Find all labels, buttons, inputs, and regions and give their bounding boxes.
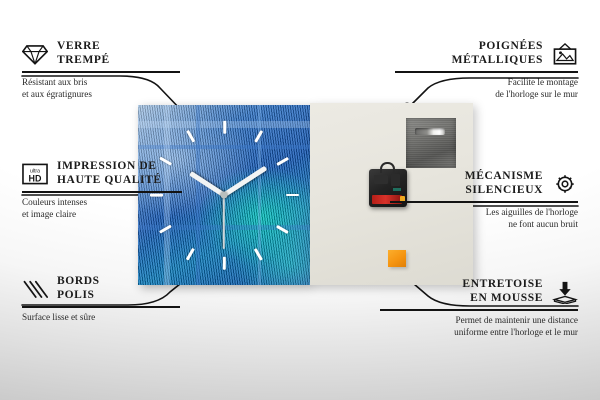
callout-entretoise-en-mousse: ENTRETOISE EN MOUSSE Permet de maintenir… [378, 278, 578, 338]
polished-edge-lines-icon [22, 277, 48, 301]
desc-line: Facilite le montage [508, 77, 578, 87]
callout-title: ENTRETOISE EN MOUSSE [462, 278, 543, 305]
clock-tick [223, 120, 226, 133]
callout-rule [22, 306, 180, 307]
callout-header: VERRE TREMPÉ [22, 40, 182, 67]
title-line: SILENCIEUX [465, 184, 543, 196]
desc-line: Résistant aux bris [22, 77, 87, 87]
callout-description: Couleurs intenses et image claire [22, 196, 192, 221]
hanger-slot [415, 128, 445, 135]
title-line: POLIS [57, 289, 95, 301]
title-line: POIGNÉES [479, 40, 543, 52]
callout-bords-polis: BORDS POLIS Surface lisse et sûre [22, 275, 182, 323]
desc-line: Couleurs intenses [22, 197, 87, 207]
callout-description: Surface lisse et sûre [22, 311, 182, 323]
gear-icon [552, 172, 578, 196]
callout-title: BORDS POLIS [57, 275, 100, 302]
callout-header: ENTRETOISE EN MOUSSE [378, 278, 578, 305]
desc-line: Permet de maintenir une distance [456, 315, 578, 325]
desc-line: uniforme entre l'horloge et le mur [454, 327, 578, 337]
down-arrow-pad-icon [552, 280, 578, 304]
callout-header: BORDS POLIS [22, 275, 182, 302]
desc-line: et aux égratignures [22, 89, 92, 99]
title-line: ENTRETOISE [462, 278, 543, 290]
infographic-stage: VERRE TREMPÉ Résistant aux bris et aux é… [0, 0, 600, 400]
ultra-hd-icon: ultra HD [22, 162, 48, 186]
callout-description: Les aiguilles de l'horloge ne font aucun… [388, 206, 578, 231]
callout-description: Résistant aux bris et aux égratignures [22, 76, 182, 101]
callout-verre-trempe: VERRE TREMPÉ Résistant aux bris et aux é… [22, 40, 182, 100]
diamond-icon [22, 42, 48, 66]
title-line: MÉTALLIQUES [452, 54, 543, 66]
callout-title: POIGNÉES MÉTALLIQUES [452, 40, 543, 67]
callout-title: MÉCANISME SILENCIEUX [465, 170, 543, 197]
orange-foam-spacer [388, 250, 406, 267]
callout-rule [390, 201, 578, 202]
callout-title: VERRE TREMPÉ [57, 40, 110, 67]
callout-impression-haute-qualite: ultra HD IMPRESSION DE HAUTE QUALITÉ Cou… [22, 160, 192, 220]
clock-tick [286, 194, 299, 197]
clock-second-hand [223, 195, 225, 249]
callout-rule [380, 309, 578, 310]
desc-line: de l'horloge sur le mur [495, 89, 578, 99]
callout-rule [22, 191, 182, 192]
callout-header: ultra HD IMPRESSION DE HAUTE QUALITÉ [22, 160, 192, 187]
title-line: EN MOUSSE [470, 292, 543, 304]
callout-rule [395, 71, 578, 72]
title-line: HAUTE QUALITÉ [57, 174, 162, 186]
desc-line: ne font aucun bruit [508, 219, 578, 229]
title-line: TREMPÉ [57, 54, 110, 66]
picture-hanger-icon [552, 42, 578, 66]
title-line: IMPRESSION DE [57, 160, 157, 172]
callout-header: POIGNÉES MÉTALLIQUES [393, 40, 578, 67]
svg-text:HD: HD [29, 173, 42, 183]
clock-hand-cap [221, 192, 228, 199]
callout-poignees-metalliques: POIGNÉES MÉTALLIQUES Facilite le montage… [393, 40, 578, 100]
callout-mecanisme-silencieux: MÉCANISME SILENCIEUX Les aiguilles de l'… [388, 170, 578, 230]
metal-hanger-plate [406, 118, 456, 168]
callout-description: Facilite le montage de l'horloge sur le … [393, 76, 578, 101]
title-line: VERRE [57, 40, 100, 52]
callout-header: MÉCANISME SILENCIEUX [388, 170, 578, 197]
title-line: MÉCANISME [465, 170, 543, 182]
desc-line: Les aiguilles de l'horloge [486, 207, 578, 217]
callout-description: Permet de maintenir une distance uniform… [378, 314, 578, 339]
callout-rule [22, 71, 180, 72]
clock-tick [223, 256, 226, 269]
desc-line: Surface lisse et sûre [22, 312, 95, 322]
movement-detail [374, 175, 388, 184]
title-line: BORDS [57, 275, 100, 287]
callout-title: IMPRESSION DE HAUTE QUALITÉ [57, 160, 162, 187]
desc-line: et image claire [22, 209, 76, 219]
